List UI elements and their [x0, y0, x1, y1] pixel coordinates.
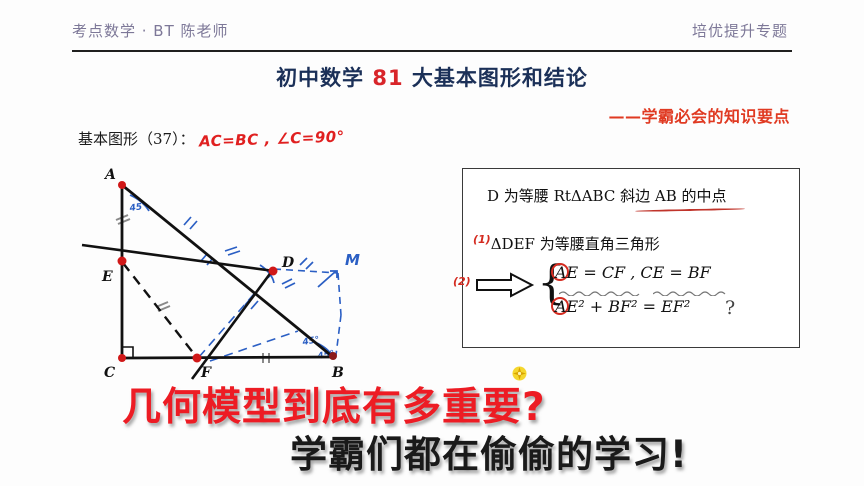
statement-line-2-row: (1)ΔDEF 为等腰直角三角形 — [473, 233, 660, 254]
blue-angle-labels: 45° 45° 45° — [128, 202, 335, 362]
blue-dashed-side-B — [336, 315, 341, 355]
implication-arrow-icon — [475, 272, 535, 298]
statement-box: D 为等腰 RtΔABC 斜边 AB 的中点 (1)ΔDEF 为等腰直角三角形 … — [462, 168, 800, 348]
vertex-label-A: A — [103, 167, 116, 183]
vertex-dot-F — [193, 354, 202, 363]
blue-tick-DB2 — [282, 279, 295, 288]
dashed-segment-EF — [123, 263, 198, 359]
blue-tick-DM — [300, 258, 313, 269]
solid-lines-group — [82, 183, 334, 379]
figure-label: 基本图形（37）： — [78, 130, 195, 148]
squiggle-underline-2 — [653, 283, 727, 289]
figure-handwritten-note: AC=BC , ∠C=90° — [198, 127, 344, 150]
geometry-diagram-svg: 45° 45° 45° — [60, 165, 460, 390]
header-divider — [72, 50, 792, 52]
geometry-diagram: 45° 45° 45° — [60, 165, 460, 390]
vertex-dot-B — [329, 352, 337, 360]
page-title-number: 81 — [372, 66, 403, 90]
page-title: 初中数学 81 大基本图形和结论 — [0, 62, 864, 92]
page-title-prefix: 初中数学 — [276, 66, 372, 90]
vertex-label-E: E — [101, 269, 113, 285]
header-brand-left: 考点数学 · BT 陈老师 — [72, 20, 229, 41]
header-topic-right: 培优提升专题 — [692, 20, 788, 41]
banner-headline-2: 学霸们都在偷偷的学习! — [290, 424, 688, 478]
segment-through-E-extended — [82, 245, 274, 271]
statement-line-2: ΔDEF 为等腰直角三角形 — [491, 235, 660, 253]
marker-2: (2) — [453, 275, 471, 288]
vertex-label-D: D — [281, 255, 295, 271]
red-underline-annotation — [635, 208, 745, 212]
vertex-dot-C — [118, 354, 126, 362]
question-mark: ? — [725, 297, 735, 319]
page-title-suffix: 大基本图形和结论 — [404, 66, 588, 90]
segment-DF-extended — [192, 271, 272, 379]
slide-header: 考点数学 · BT 陈老师 培优提升专题 — [72, 20, 792, 52]
vertex-dot-D — [269, 267, 278, 276]
vertex-label-C: C — [104, 365, 115, 381]
slide-canvas: 考点数学 · BT 陈老师 培优提升专题 初中数学 81 大基本图形和结论 ——… — [0, 0, 864, 486]
figure-label-row: 基本图形（37）：AC=BC , ∠C=90° — [78, 128, 344, 149]
tick-marks-group — [116, 215, 269, 363]
vertex-label-M: M — [345, 251, 360, 269]
vertex-dot-E — [118, 257, 127, 266]
marker-1: (1) — [473, 233, 491, 246]
blue-tick-AD — [184, 217, 197, 229]
blue-tick-mid-AD — [225, 247, 240, 255]
blue-arrow-to-M — [318, 271, 337, 287]
segment-CB — [122, 357, 334, 358]
equation-1: AE = CF , CE = BF — [555, 263, 711, 282]
statement-line-1: D 为等腰 RtΔABC 斜边 AB 的中点 — [487, 185, 727, 206]
vertex-dot-A — [118, 181, 126, 189]
equation-2: AE² + BF² = EF² — [555, 297, 690, 316]
blue-dashed-M-side — [338, 273, 341, 315]
squiggle-underline-1 — [559, 283, 645, 289]
page-subtitle: ——学霸必会的知识要点 — [608, 103, 790, 127]
